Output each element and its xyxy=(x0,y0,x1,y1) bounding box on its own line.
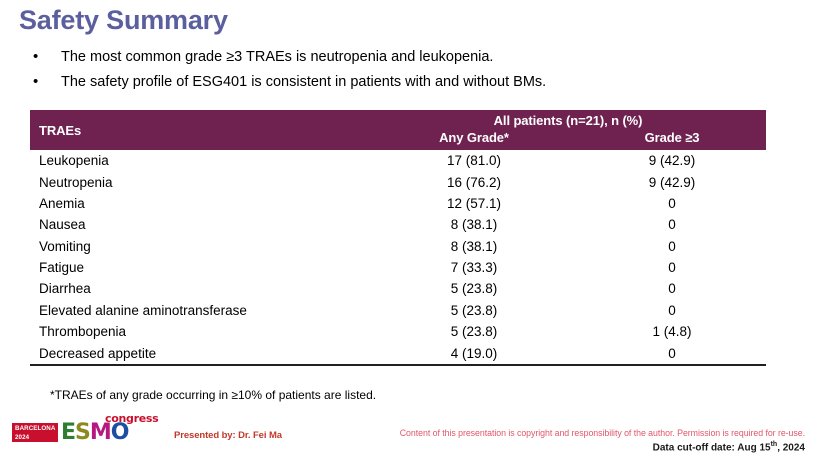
page-title: Safety Summary xyxy=(19,4,228,36)
cell-any-grade: 8 (38.1) xyxy=(370,214,578,235)
bullet-marker-icon: • xyxy=(30,71,61,93)
traes-table: TRAEs All patients (n=21), n (%) Any Gra… xyxy=(30,110,766,366)
table-header-group-row: TRAEs All patients (n=21), n (%) xyxy=(30,110,766,129)
cell-grade-3: 9 (42.9) xyxy=(578,150,766,171)
column-header-all-patients: All patients (n=21), n (%) xyxy=(370,110,766,129)
cell-any-grade: 5 (23.8) xyxy=(370,300,578,321)
esmo-letter-m: M xyxy=(90,423,111,442)
cell-grade-3: 0 xyxy=(578,278,766,299)
data-cutoff-label: Data cut-off date: Aug 15th, 2024 xyxy=(653,441,805,453)
cell-traes-name: Fatigue xyxy=(30,257,370,278)
cell-any-grade: 4 (19.0) xyxy=(370,342,578,364)
column-header-grade-3: Grade ≥3 xyxy=(578,129,766,150)
cell-grade-3: 0 xyxy=(578,214,766,235)
table-row: Nausea 8 (38.1) 0 xyxy=(30,214,766,235)
badge-city: BARCELONA xyxy=(15,424,58,433)
table-row: Leukopenia 17 (81.0) 9 (42.9) xyxy=(30,150,766,171)
esmo-letter-s: S xyxy=(75,423,90,442)
table-row: Vomiting 8 (38.1) 0 xyxy=(30,236,766,257)
table-footnote: *TRAEs of any grade occurring in ≥10% of… xyxy=(50,388,376,402)
table-body: Leukopenia 17 (81.0) 9 (42.9) Neutropeni… xyxy=(30,150,766,365)
cell-any-grade: 16 (76.2) xyxy=(370,171,578,192)
cell-traes-name: Diarrhea xyxy=(30,278,370,299)
bullet-text: The most common grade ≥3 TRAEs is neutro… xyxy=(61,46,493,68)
cutoff-prefix: Data cut-off date: Aug 15 xyxy=(653,442,771,453)
bullet-marker-icon: • xyxy=(30,46,61,68)
cell-traes-name: Anemia xyxy=(30,193,370,214)
cutoff-suffix: , 2024 xyxy=(777,442,805,453)
cell-traes-name: Nausea xyxy=(30,214,370,235)
bullet-text: The safety profile of ESG401 is consiste… xyxy=(61,71,546,93)
table-row: Fatigue 7 (33.3) 0 xyxy=(30,257,766,278)
esmo-wordmark: E S M O congress xyxy=(61,423,129,442)
table-row: Decreased appetite 4 (19.0) 0 xyxy=(30,342,766,364)
table-header: TRAEs All patients (n=21), n (%) Any Gra… xyxy=(30,110,766,150)
table-row: Anemia 12 (57.1) 0 xyxy=(30,193,766,214)
table-row: Elevated alanine aminotransferase 5 (23.… xyxy=(30,300,766,321)
cell-grade-3: 0 xyxy=(578,236,766,257)
column-header-traes: TRAEs xyxy=(30,110,370,150)
cell-grade-3: 1 (4.8) xyxy=(578,321,766,342)
cell-any-grade: 5 (23.8) xyxy=(370,278,578,299)
cell-traes-name: Elevated alanine aminotransferase xyxy=(30,300,370,321)
bullet-list: • The most common grade ≥3 TRAEs is neut… xyxy=(30,46,790,96)
list-item: • The most common grade ≥3 TRAEs is neut… xyxy=(30,46,790,71)
cell-grade-3: 0 xyxy=(578,257,766,278)
esmo-letter-e: E xyxy=(61,423,75,442)
cell-any-grade: 7 (33.3) xyxy=(370,257,578,278)
cell-traes-name: Leukopenia xyxy=(30,150,370,171)
cell-grade-3: 9 (42.9) xyxy=(578,171,766,192)
cell-any-grade: 17 (81.0) xyxy=(370,150,578,171)
cell-any-grade: 5 (23.8) xyxy=(370,321,578,342)
copyright-notice: Content of this presentation is copyrigh… xyxy=(400,428,805,438)
cell-traes-name: Neutropenia xyxy=(30,171,370,192)
column-header-any-grade: Any Grade* xyxy=(370,129,578,150)
cell-traes-name: Vomiting xyxy=(30,236,370,257)
esmo-letter-o: O xyxy=(111,423,129,442)
table-row: Diarrhea 5 (23.8) 0 xyxy=(30,278,766,299)
badge-year: 2024 xyxy=(15,433,58,442)
cell-traes-name: Decreased appetite xyxy=(30,342,370,364)
congress-wordmark: congress xyxy=(105,412,158,425)
list-item: • The safety profile of ESG401 is consis… xyxy=(30,71,790,96)
traes-table-container: TRAEs All patients (n=21), n (%) Any Gra… xyxy=(30,110,766,366)
cell-grade-3: 0 xyxy=(578,193,766,214)
presented-by-label: Presented by: Dr. Fei Ma xyxy=(174,430,282,441)
slide-footer: BARCELONA 2024 E S M O congress Presente… xyxy=(0,414,814,458)
cell-any-grade: 12 (57.1) xyxy=(370,193,578,214)
barcelona-2024-badge: BARCELONA 2024 xyxy=(12,423,58,442)
cell-grade-3: 0 xyxy=(578,342,766,364)
cell-grade-3: 0 xyxy=(578,300,766,321)
table-row: Thrombopenia 5 (23.8) 1 (4.8) xyxy=(30,321,766,342)
cell-traes-name: Thrombopenia xyxy=(30,321,370,342)
table-row: Neutropenia 16 (76.2) 9 (42.9) xyxy=(30,171,766,192)
esmo-congress-logo: BARCELONA 2024 E S M O congress xyxy=(12,423,129,442)
cell-any-grade: 8 (38.1) xyxy=(370,236,578,257)
